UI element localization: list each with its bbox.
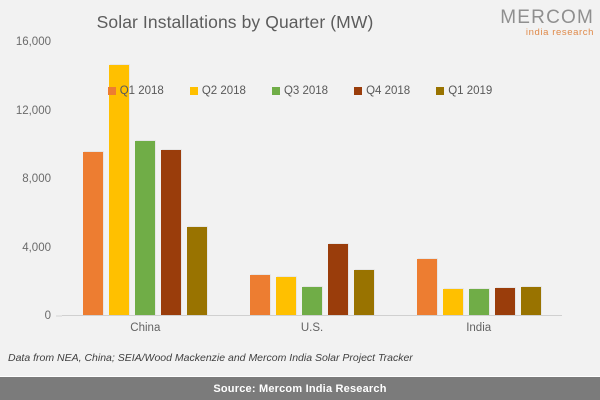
y-axis-tick-label: 8,000	[22, 173, 51, 185]
bar[interactable]	[187, 227, 207, 316]
x-axis-labels: ChinaU.S.India	[62, 322, 562, 334]
bar[interactable]	[417, 259, 437, 316]
logo-tagline: india research	[470, 28, 594, 38]
plot-inner	[62, 42, 562, 316]
bar[interactable]	[135, 141, 155, 316]
bar-group-us	[229, 46, 396, 316]
bar-group-china	[62, 46, 229, 316]
bar[interactable]	[469, 289, 489, 316]
x-axis-label-us: U.S.	[229, 322, 396, 334]
plot-area	[62, 38, 562, 316]
mercom-logo: MERCOM india research	[470, 8, 594, 38]
source-footer-label: Source: Mercom India Research	[213, 383, 386, 395]
bar[interactable]	[521, 287, 541, 316]
data-source-note: Data from NEA, China; SEIA/Wood Mackenzi…	[8, 352, 413, 364]
chart-screenshot: Solar Installations by Quarter (MW) MERC…	[0, 0, 600, 400]
page-title: Solar Installations by Quarter (MW)	[0, 12, 470, 33]
y-axis-tick-label: 12,000	[16, 105, 51, 117]
bar[interactable]	[354, 270, 374, 316]
y-axis-tick-label: 4,000	[22, 242, 51, 254]
bar[interactable]	[495, 288, 515, 316]
axis-baseline	[62, 315, 562, 317]
x-axis-label-india: India	[395, 322, 562, 334]
bar[interactable]	[250, 275, 270, 316]
bar[interactable]	[328, 244, 348, 316]
bar[interactable]	[83, 152, 103, 316]
y-axis-tick-label: 0	[45, 310, 51, 322]
bar[interactable]	[109, 65, 129, 316]
bar[interactable]	[443, 289, 463, 316]
logo-wordmark: MERCOM	[470, 8, 594, 27]
bar-groups	[62, 46, 562, 316]
y-axis: 04,0008,00012,00016,000	[0, 38, 62, 320]
source-footer-bar: Source: Mercom India Research	[0, 376, 600, 400]
bar[interactable]	[161, 150, 181, 316]
bar[interactable]	[302, 287, 322, 316]
y-axis-tick-label: 16,000	[16, 36, 51, 48]
x-axis-label-china: China	[62, 322, 229, 334]
bar-group-india	[395, 46, 562, 316]
bar[interactable]	[276, 277, 296, 316]
